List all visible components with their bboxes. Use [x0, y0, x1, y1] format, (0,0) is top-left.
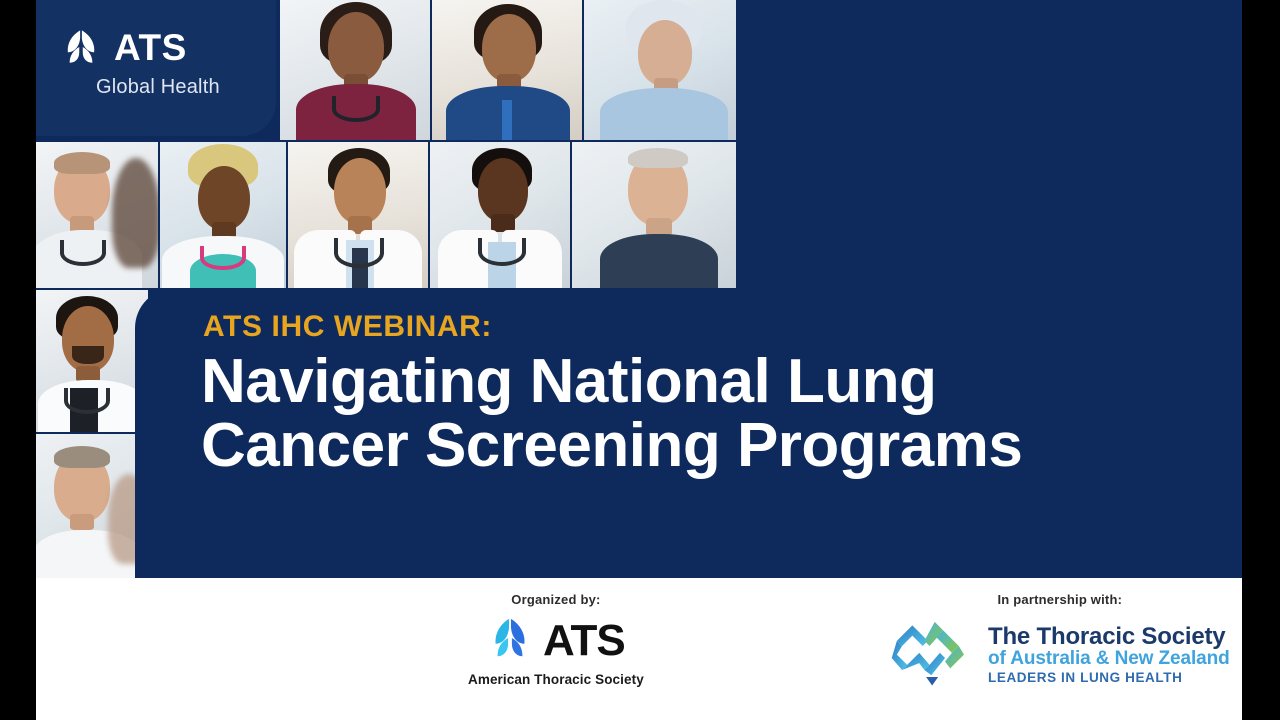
photo-tile-c1r3	[36, 290, 148, 432]
photo-tile-r1c2	[432, 0, 582, 140]
tsanz-wordmark: The Thoracic Society of Australia & New …	[988, 625, 1230, 685]
photo-tile-r2c4	[430, 142, 570, 288]
photo-tile-r2c1	[36, 142, 158, 288]
ats-global-health-badge: ATS Global Health	[36, 0, 276, 136]
organizer-label: Organized by:	[511, 592, 600, 607]
ats-tagline: American Thoracic Society	[468, 672, 644, 687]
footer-credits: Organized by: ATS American Thora	[408, 578, 1242, 720]
ats-lung-mark	[60, 26, 102, 68]
partner-credit: In partnership with:	[890, 592, 1230, 694]
photo-tile-r1c3	[584, 0, 736, 140]
page-title-line2: Cancer Screening Programs	[201, 414, 1222, 478]
photo-tile-r2c2	[160, 142, 286, 288]
ats-lung-mark-color	[487, 615, 533, 666]
footer-bar: Organized by: ATS American Thora	[36, 578, 1242, 720]
tsanz-line2: of Australia & New Zealand	[988, 649, 1230, 668]
tsanz-ribbon-mark	[890, 615, 976, 694]
tsanz-logo: The Thoracic Society of Australia & New …	[890, 615, 1230, 694]
photo-tile-r2c3	[288, 142, 428, 288]
video-frame: ATS Global Health ATS IHC WEBINAR: Navig…	[36, 0, 1242, 720]
photo-tile-r2c5	[572, 142, 736, 288]
page-title-line1: Navigating National Lung	[201, 347, 936, 416]
ats-logo: ATS	[487, 615, 625, 666]
photo-tile-r1c1	[280, 0, 430, 140]
brand-subtitle: Global Health	[96, 76, 220, 99]
partner-label: In partnership with:	[998, 592, 1123, 607]
tsanz-line3: LEADERS IN LUNG HEALTH	[988, 671, 1230, 685]
ats-wordmark: ATS	[543, 619, 625, 663]
webinar-eyebrow: ATS IHC WEBINAR:	[203, 310, 492, 344]
letterbox-stage: ATS Global Health ATS IHC WEBINAR: Navig…	[0, 0, 1280, 720]
title-panel: ATS IHC WEBINAR: Navigating National Lun…	[135, 288, 1242, 578]
brand-lockup: ATS	[60, 26, 187, 68]
photo-tile-c1r4	[36, 434, 148, 578]
tsanz-line1: The Thoracic Society	[988, 625, 1230, 649]
mosaic-navy-fill	[736, 0, 1242, 290]
brand-name: ATS	[114, 29, 187, 66]
organizer-credit: Organized by: ATS American Thora	[468, 592, 644, 687]
page-title: Navigating National Lung Cancer Screenin…	[201, 350, 1222, 478]
